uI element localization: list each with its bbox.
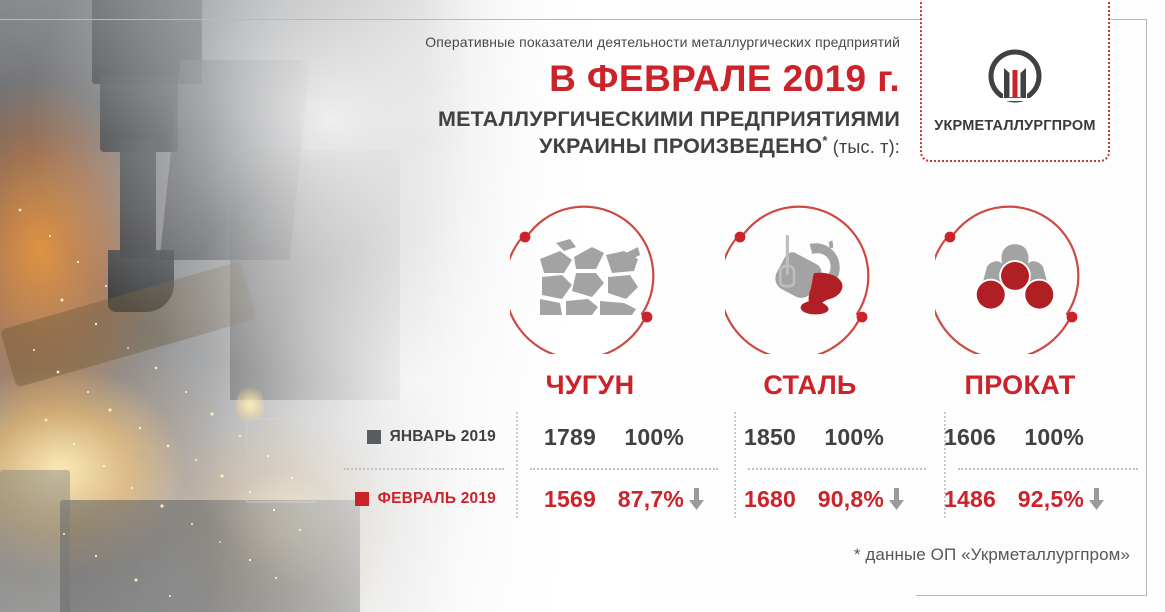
page-title: В ФЕВРАЛЕ 2019 г. (300, 58, 900, 101)
row-label: ФЕВРАЛЬ 2019 (378, 490, 496, 508)
legend-swatch-icon (355, 492, 369, 506)
value-volume: 1486 (910, 486, 996, 513)
value-percent: 92,5% (996, 486, 1084, 513)
footnote-text: * данные ОП «Укрметаллургпром» (640, 545, 1130, 565)
header-block: Оперативные показатели деятельности мета… (300, 34, 900, 160)
table-cell-chugun-january: 1789 100% (510, 420, 710, 454)
down-arrow-icon (1084, 488, 1108, 510)
value-percent: 100% (596, 424, 684, 451)
value-percent: 100% (796, 424, 884, 451)
value-percent: 100% (996, 424, 1084, 451)
logo-wordmark: УКРМЕТАЛЛУРГПРОМ (934, 118, 1095, 134)
down-arrow-icon (884, 488, 908, 510)
row-legend-february: ФЕВРАЛЬ 2019 (330, 482, 510, 516)
value-volume: 1569 (510, 486, 596, 513)
product-icons-row (500, 196, 1140, 356)
value-percent: 87,7% (596, 486, 684, 513)
row-separator (748, 468, 926, 470)
table-cell-prokat-january: 1606 100% (910, 420, 1110, 454)
value-volume: 1789 (510, 424, 596, 451)
value-volume: 1850 (710, 424, 796, 451)
product-icon-circle-prokat (935, 196, 1095, 354)
subtitle-line-2: УКРАИНЫ ПРОИЗВЕДЕНО* (тыс. т): (300, 133, 900, 160)
product-name-chugun: ЧУГУН (500, 370, 680, 401)
subtitle-block: МЕТАЛЛУРГИЧЕСКИМИ ПРЕДПРИЯТИЯМИ УКРАИНЫ … (300, 106, 900, 159)
umk-circle-bars-logo-icon (983, 46, 1047, 110)
value-percent: 90,8% (796, 486, 884, 513)
table-cell-prokat-february: 1486 92,5% (910, 482, 1110, 516)
subtitle-units: (тыс. т): (828, 137, 900, 157)
product-name-prokat: ПРОКАТ (930, 370, 1110, 401)
table-cell-stal-february: 1680 90,8% (710, 482, 910, 516)
table-row: ФЕВРАЛЬ 2019 1569 87,7% 1680 90,8% 1486 … (330, 482, 1140, 516)
value-volume: 1680 (710, 486, 796, 513)
row-legend-january: ЯНВАРЬ 2019 (330, 420, 510, 454)
table-row: ЯНВАРЬ 2019 1789 100% 1850 100% 1606 100… (330, 420, 1140, 454)
value-volume: 1606 (910, 424, 996, 451)
legend-swatch-icon (367, 430, 381, 444)
row-separator (344, 468, 504, 470)
comparison-table: ЯНВАРЬ 2019 1789 100% 1850 100% 1606 100… (330, 420, 1140, 520)
row-label: ЯНВАРЬ 2019 (390, 428, 496, 446)
iron-ore-pile-icon (538, 233, 642, 317)
table-cell-stal-january: 1850 100% (710, 420, 910, 454)
table-cell-chugun-february: 1569 87,7% (510, 482, 710, 516)
logo-badge: УКРМЕТАЛЛУРГПРОМ (920, 0, 1110, 162)
subtitle-line-1: МЕТАЛЛУРГИЧЕСКИМИ ПРЕДПРИЯТИЯМИ (300, 106, 900, 133)
header-rule (0, 19, 922, 20)
infographic-root: УКРМЕТАЛЛУРГПРОМ Оперативные показатели … (0, 0, 1165, 612)
row-separator (958, 468, 1138, 470)
product-icon-circle-chugun (510, 196, 670, 354)
rolled-pipes-icon (963, 233, 1067, 317)
product-icon-circle-stal (725, 196, 885, 354)
product-name-stal: СТАЛЬ (720, 370, 900, 401)
row-separator (530, 468, 718, 470)
down-arrow-icon (684, 488, 708, 510)
pouring-ladle-icon (753, 233, 857, 317)
kicker-text: Оперативные показатели деятельности мета… (300, 34, 900, 51)
subtitle-line-2-bold: УКРАИНЫ ПРОИЗВЕДЕНО (539, 134, 822, 158)
product-names-row: ЧУГУН СТАЛЬ ПРОКАТ (500, 370, 1140, 410)
